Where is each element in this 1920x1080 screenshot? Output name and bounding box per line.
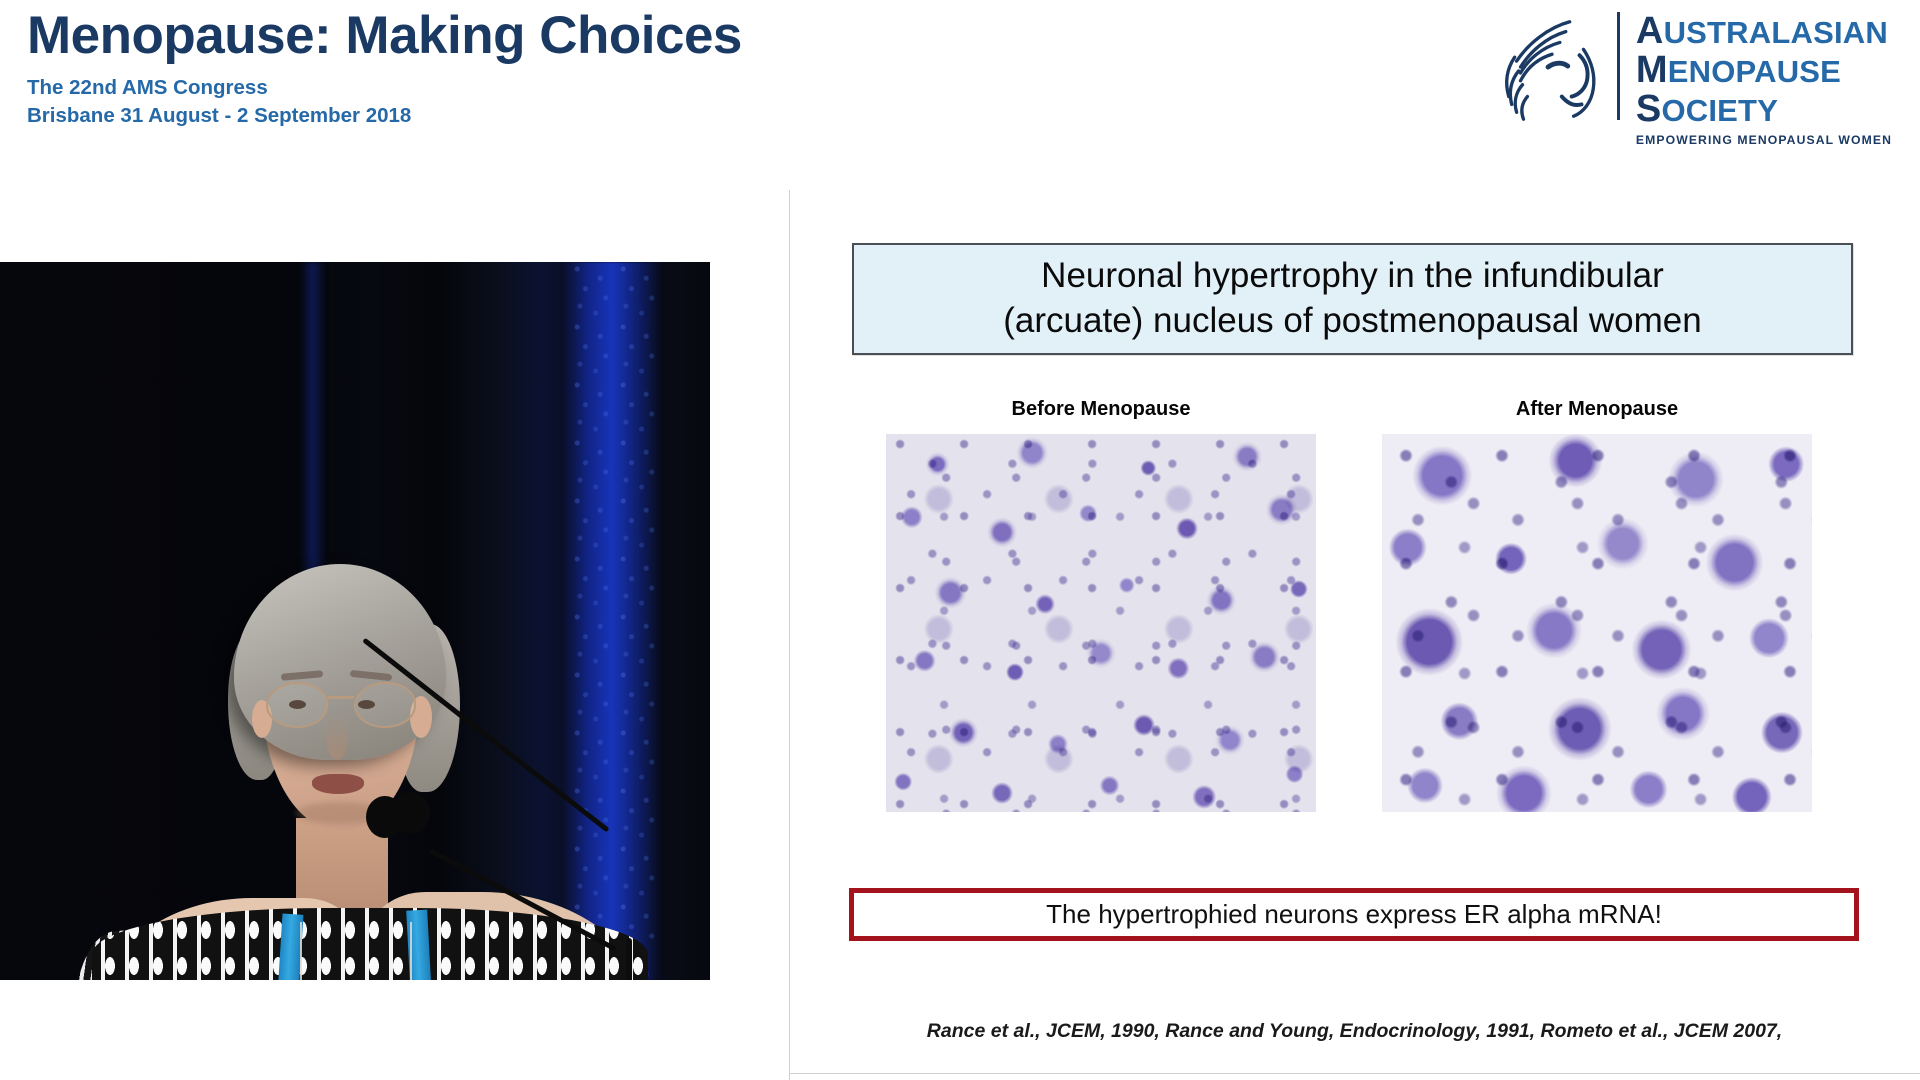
congress-branding: Menopause: Making Choices The 22nd AMS C… <box>27 8 742 130</box>
logo-line-menopause: MENOPAUSE <box>1636 51 1892 90</box>
microphone-head-right <box>392 792 430 834</box>
micrograph-panel-before: Before Menopause <box>886 398 1316 812</box>
slide-screenshot: Menopause: Making Choices The 22nd AMS C… <box>0 0 1920 1080</box>
microphone-stem <box>626 938 632 980</box>
logo-line-australasian: AUSTRALASIAN <box>1636 12 1892 51</box>
logo-line-society: SOCIETY <box>1636 90 1892 129</box>
ams-society-logo: AUSTRALASIAN MENOPAUSE SOCIETY EMPOWERIN… <box>1493 10 1892 128</box>
micrograph-label-before: Before Menopause <box>886 398 1316 421</box>
histology-texture-before <box>886 434 1316 812</box>
micrograph-comparison: Before Menopause After Menopause <box>829 398 1880 818</box>
ams-face-profile-icon <box>1493 10 1611 128</box>
speaker-mouth <box>312 774 364 794</box>
glasses-lens-right <box>354 682 416 728</box>
presentation-slide-panel: Neuronal hypertrophy in the infundibular… <box>789 190 1920 1080</box>
ams-wordmark: AUSTRALASIAN MENOPAUSE SOCIETY EMPOWERIN… <box>1636 10 1892 147</box>
slide-citation: Rance et al., JCEM, 1990, Rance and Youn… <box>789 1020 1920 1043</box>
speaker-necklace <box>300 922 412 980</box>
micrograph-image-after <box>1382 434 1812 812</box>
conclusion-text: The hypertrophied neurons express ER alp… <box>1046 899 1662 930</box>
logo-divider <box>1617 12 1620 120</box>
micrograph-panel-after: After Menopause <box>1382 398 1812 812</box>
slide-title: Neuronal hypertrophy in the infundibular… <box>1003 254 1701 344</box>
histology-texture-after <box>1382 434 1812 812</box>
congress-header: Menopause: Making Choices The 22nd AMS C… <box>0 0 1920 180</box>
congress-subtitle-dates: Brisbane 31 August - 2 September 2018 <box>27 102 742 130</box>
glasses-lens-left <box>266 682 328 728</box>
logo-tagline: EMPOWERING MENOPAUSAL WOMEN <box>1636 133 1892 147</box>
slide-title-box: Neuronal hypertrophy in the infundibular… <box>852 243 1853 355</box>
conclusion-callout-box: The hypertrophied neurons express ER alp… <box>849 888 1859 941</box>
congress-title: Menopause: Making Choices <box>27 8 742 64</box>
speaker-video-frame <box>0 262 710 980</box>
speaker-nose <box>326 714 348 760</box>
congress-subtitle-name: The 22nd AMS Congress <box>27 74 742 102</box>
micrograph-image-before <box>886 434 1316 812</box>
glasses-bridge <box>328 696 354 699</box>
stage-light-texture <box>568 262 660 980</box>
micrograph-label-after: After Menopause <box>1382 398 1812 421</box>
